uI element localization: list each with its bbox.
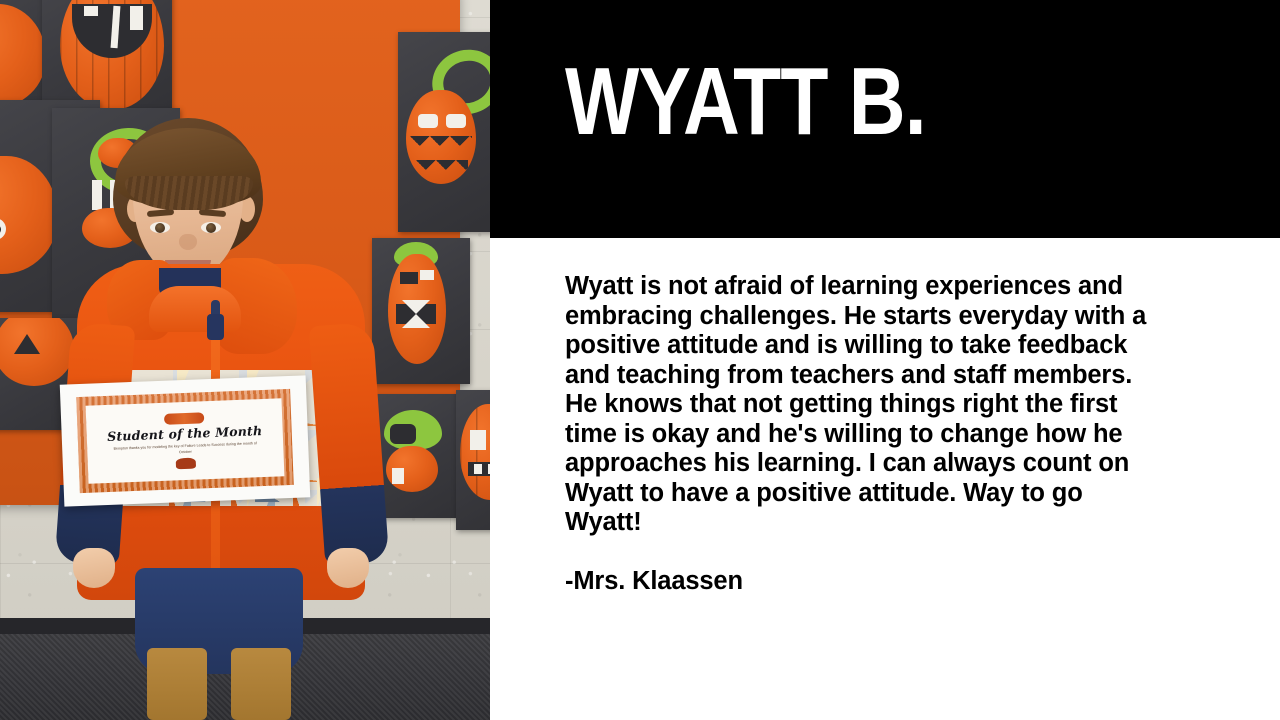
hand	[327, 548, 369, 588]
nose	[179, 234, 197, 250]
zipper-pull	[207, 314, 224, 340]
pants-leg	[147, 648, 207, 720]
artwork-piece	[456, 390, 490, 530]
pants-leg	[231, 648, 291, 720]
jacket-collar	[149, 286, 241, 332]
slide-root: Student of the Month Bempton thanks you …	[0, 0, 1280, 720]
certificate: Student of the Month Bempton thanks you …	[60, 375, 311, 506]
eye	[201, 222, 221, 233]
artwork-piece	[398, 32, 490, 232]
page-title: WYATT B.	[565, 54, 926, 150]
testimonial-block: Wyatt is not afraid of learning experien…	[565, 272, 1165, 596]
artwork-piece	[372, 238, 470, 384]
mascot-icon	[176, 457, 196, 469]
content-panel: WYATT B. Wyatt is not afraid of learning…	[490, 0, 1280, 720]
attribution-text: -Mrs. Klaassen	[565, 567, 1165, 597]
iris	[206, 223, 216, 233]
testimonial-text: Wyatt is not afraid of learning experien…	[565, 272, 1165, 538]
hand	[73, 548, 115, 588]
certificate-inner: Student of the Month Bempton thanks you …	[86, 398, 285, 483]
certificate-title: Student of the Month	[107, 423, 263, 444]
iris	[155, 223, 165, 233]
eye	[150, 222, 170, 233]
certificate-subtext: Bempton thanks you for modeling the key …	[110, 441, 260, 458]
certificate-border: Student of the Month Bempton thanks you …	[76, 389, 294, 493]
school-logo-icon	[164, 412, 204, 425]
student-photo: Student of the Month Bempton thanks you …	[0, 0, 490, 720]
